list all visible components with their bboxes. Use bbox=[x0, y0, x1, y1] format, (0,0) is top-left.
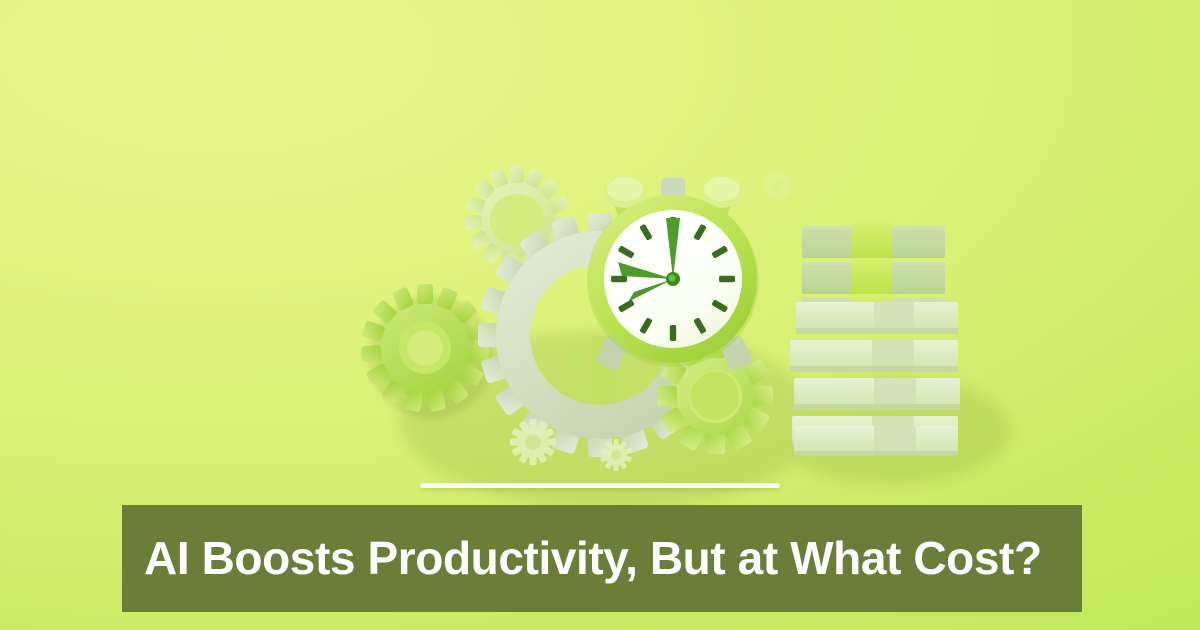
gear-tiny-top-right-icon bbox=[762, 171, 792, 201]
gear-left-green-icon bbox=[361, 284, 493, 419]
money-solid-bundles bbox=[790, 302, 960, 456]
hero-card: AI Boosts Productivity, But at What Cost… bbox=[0, 0, 1200, 630]
divider-line bbox=[420, 483, 780, 488]
title-banner: AI Boosts Productivity, But at What Cost… bbox=[122, 505, 1082, 612]
page-title: AI Boosts Productivity, But at What Cost… bbox=[144, 534, 1042, 582]
money-stack bbox=[790, 222, 960, 456]
